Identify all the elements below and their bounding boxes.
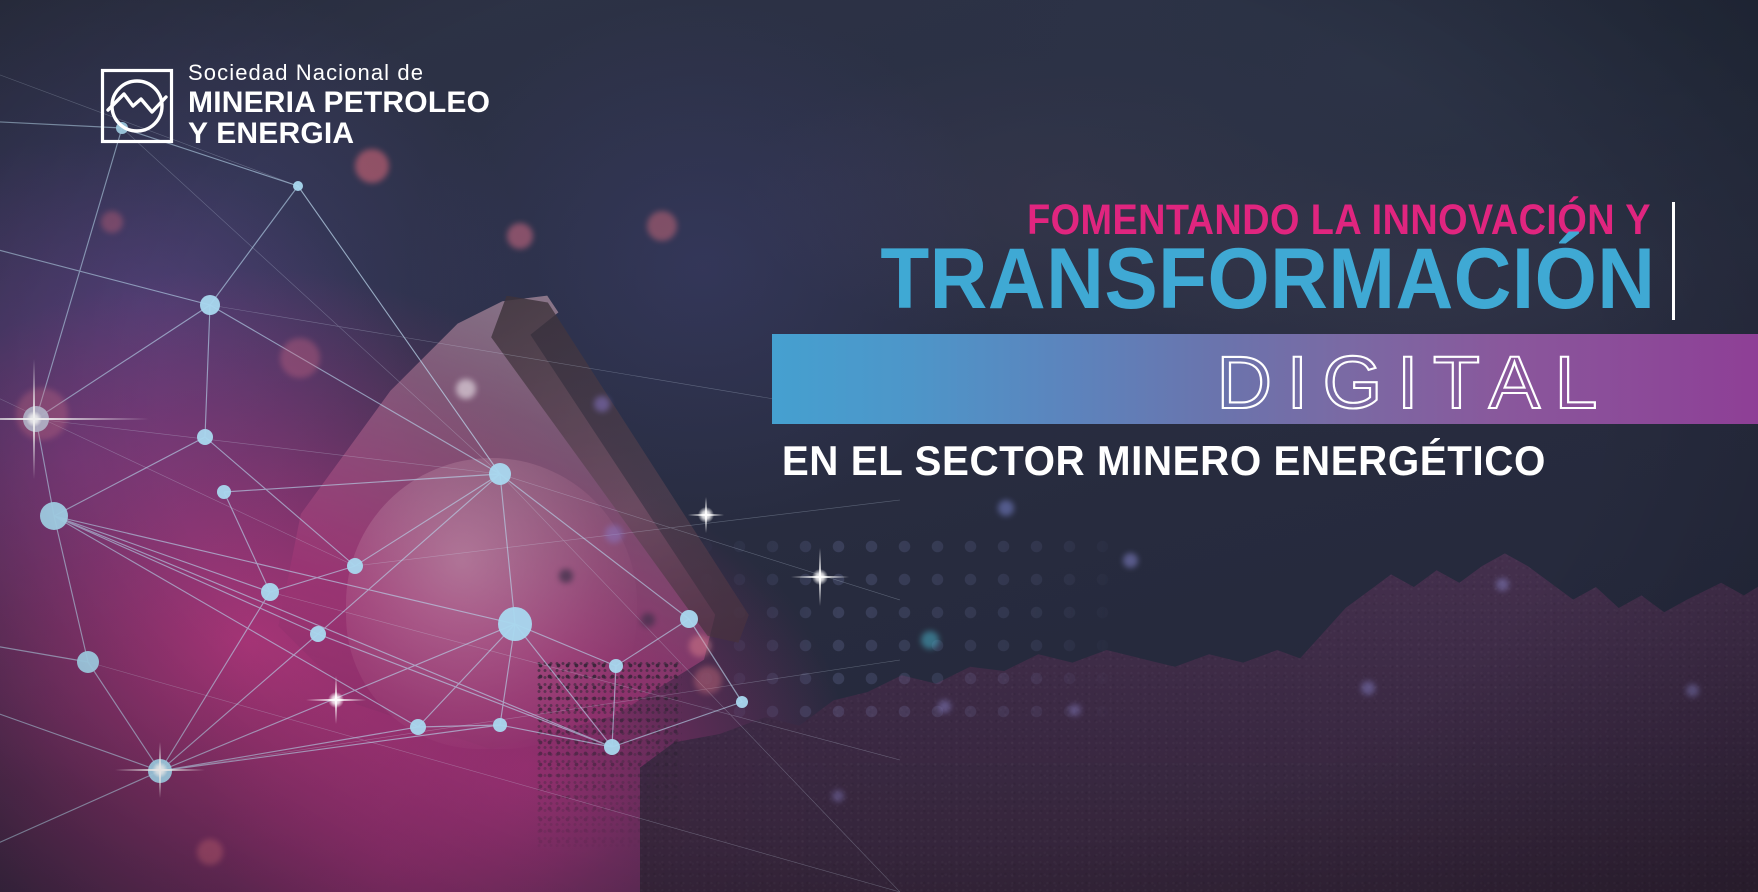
headline-block: FOMENTANDO LA INNOVACIÓN Y TRANSFORMACIÓ… bbox=[0, 0, 1758, 892]
headline-title: TRANSFORMACIÓN bbox=[880, 236, 1655, 322]
headline-highlight-digital: DIGITAL bbox=[926, 340, 1612, 426]
headline-subtitle: EN EL SECTOR MINERO ENERGÉTICO bbox=[782, 437, 1546, 485]
promotional-banner: Sociedad Nacional de MINERIA PETROLEO Y … bbox=[0, 0, 1758, 892]
svg-text:DIGITAL: DIGITAL bbox=[1216, 341, 1612, 423]
digital-outline-text: DIGITAL bbox=[926, 340, 1612, 426]
vertical-rule-divider bbox=[1672, 202, 1675, 320]
